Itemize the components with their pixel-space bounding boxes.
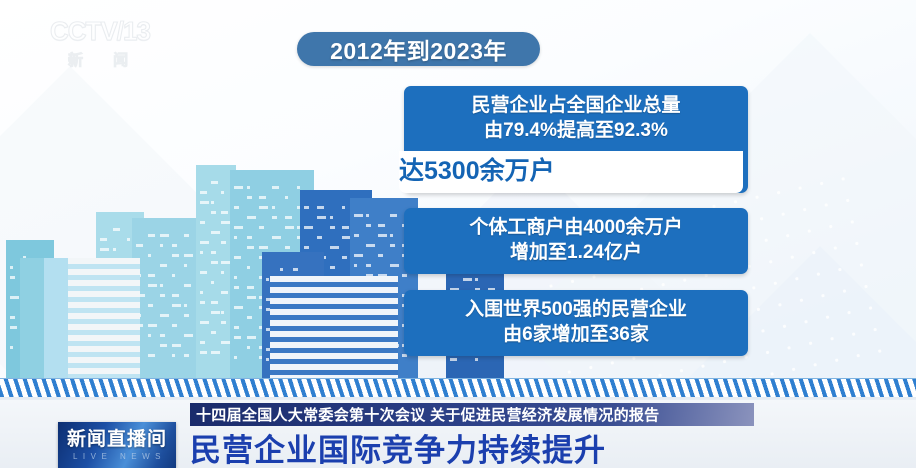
info-highlight: 达5300余万户: [399, 151, 743, 194]
news-broadcast-frame: CCTV/13 新 闻 2012年到2023年 民营企业占全国企业总量 由79.…: [0, 0, 916, 468]
info-box-individual-businesses: 个体工商户由4000余万户 增加至1.24亿户: [404, 208, 748, 274]
info-line: 增加至1.24亿户: [510, 240, 642, 265]
lower-third-subtitle: 十四届全国人大常委会第十次会议 关于促进民营经济发展情况的报告: [190, 404, 659, 425]
date-range-label: 2012年到2023年: [330, 32, 507, 66]
building: [270, 276, 398, 380]
building: [20, 258, 140, 380]
info-line: 个体工商户由4000余万户: [469, 215, 682, 240]
info-box-fortune-500: 入围世界500强的民营企业 由6家增加至36家: [404, 290, 748, 356]
info-line: 由79.4%提高至92.3%: [484, 118, 668, 143]
info-line: 民营企业占全国企业总量: [471, 93, 680, 118]
lower-third-subtitle-bar: 十四届全国人大常委会第十次会议 关于促进民营经济发展情况的报告: [190, 403, 754, 426]
program-badge-subtitle: LIVE NEWS: [68, 452, 166, 461]
cctv-logo: CCTV/13 新 闻: [48, 18, 166, 74]
cctv-logo-wordmark: CCTV/13: [48, 18, 166, 44]
date-range-pill: 2012年到2023年: [297, 32, 540, 66]
lower-third-headline: 民营企业国际竞争力持续提升: [190, 425, 606, 468]
info-line: 入围世界500强的民营企业: [465, 297, 687, 322]
info-box-enterprise-share: 民营企业占全国企业总量 由79.4%提高至92.3% 达5300余万户: [404, 86, 748, 193]
cctv-logo-subtext: 新 闻: [48, 49, 166, 70]
striped-divider-band: [0, 378, 916, 397]
info-line: 由6家增加至36家: [503, 322, 649, 347]
lower-third-headline-bar: 民营企业国际竞争力持续提升: [190, 426, 606, 468]
program-badge-title: 新闻直播间: [67, 430, 167, 449]
program-badge: 新闻直播间 LIVE NEWS: [58, 422, 176, 468]
